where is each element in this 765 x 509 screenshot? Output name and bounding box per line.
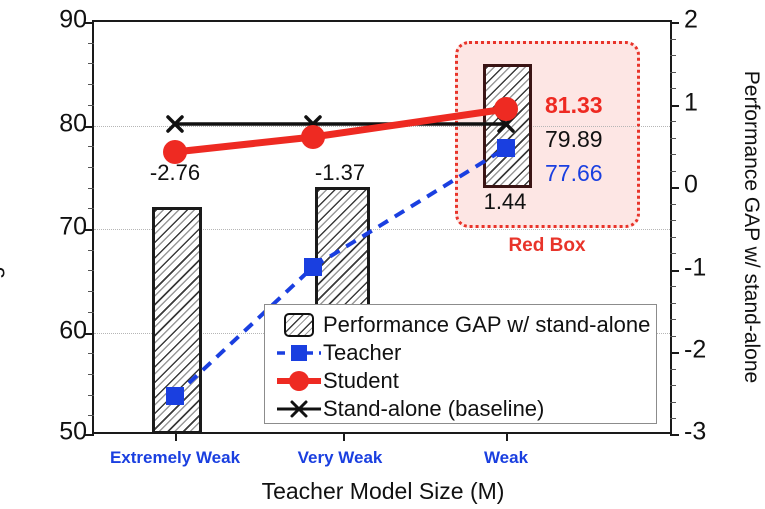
x-axis-title: Teacher Model Size (M) bbox=[262, 478, 505, 505]
teacher-marker-0 bbox=[166, 387, 184, 405]
ytick-label-right-m2: -2 bbox=[684, 336, 744, 365]
teacher-marker-1 bbox=[304, 258, 322, 276]
ytick-label-left-70: 70 bbox=[27, 213, 87, 242]
ytick-label-right-1: 1 bbox=[684, 88, 744, 117]
legend-label-student: Student bbox=[323, 370, 399, 392]
xtick-label-extremely-weak: Extremely Weak bbox=[110, 448, 240, 468]
red-solid-circle-icon bbox=[275, 370, 323, 392]
student-marker-2 bbox=[494, 97, 518, 121]
y-axis-title-right: Performance GAP w/ stand-alone bbox=[739, 71, 763, 383]
teacher-marker-2 bbox=[497, 139, 515, 157]
black-x-marker-icon bbox=[275, 399, 323, 419]
legend-item-gap: Performance GAP w/ stand-alone bbox=[275, 311, 646, 339]
ytick-label-right-m1: -1 bbox=[684, 253, 744, 282]
hatched-swatch-icon bbox=[275, 313, 323, 337]
legend-label-teacher: Teacher bbox=[323, 342, 401, 364]
callout-student-value: 81.33 bbox=[545, 92, 603, 119]
series-overlay bbox=[0, 0, 765, 509]
ytick-label-left-60: 60 bbox=[27, 316, 87, 345]
y-axis-title-left: Average Performance bbox=[0, 115, 6, 338]
ytick-label-left-90: 90 bbox=[27, 6, 87, 35]
ytick-label-right-m3: -3 bbox=[684, 418, 744, 447]
xtick-label-very-weak: Very Weak bbox=[298, 448, 383, 468]
blue-dashed-square-icon bbox=[275, 343, 323, 363]
ytick-label-right-0: 0 bbox=[684, 171, 744, 200]
legend: Performance GAP w/ stand-alone Teacher S… bbox=[264, 304, 657, 424]
student-line bbox=[175, 109, 506, 152]
legend-item-teacher: Teacher bbox=[275, 339, 646, 367]
student-marker-0 bbox=[163, 140, 187, 164]
ytick-label-left-50: 50 bbox=[27, 418, 87, 447]
legend-label-standalone: Stand-alone (baseline) bbox=[323, 398, 544, 420]
ytick-label-left-80: 80 bbox=[27, 109, 87, 138]
legend-item-student: Student bbox=[275, 367, 646, 395]
ytick-label-right-2: 2 bbox=[684, 6, 744, 35]
callout-teacher-value: 77.66 bbox=[545, 160, 603, 187]
callout-standalone-value: 79.89 bbox=[545, 126, 603, 153]
legend-label-gap: Performance GAP w/ stand-alone bbox=[323, 314, 650, 336]
student-marker-1 bbox=[301, 125, 325, 149]
xtick-label-weak: Weak bbox=[484, 448, 528, 468]
legend-item-standalone: Stand-alone (baseline) bbox=[275, 395, 646, 423]
chart-root: Red Box bbox=[0, 0, 765, 509]
